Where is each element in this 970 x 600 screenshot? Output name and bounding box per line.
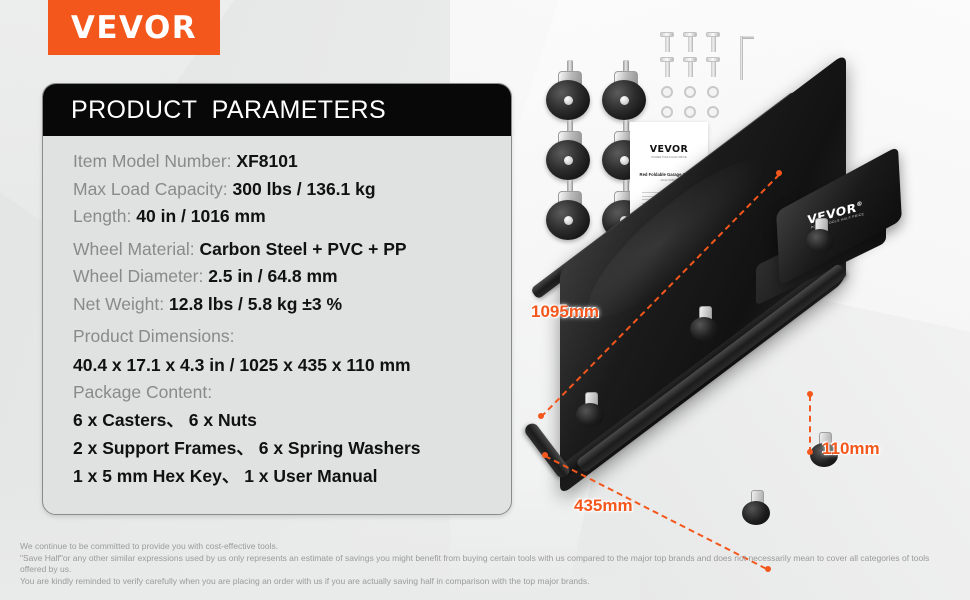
package-line: 1 x 5 mm Hex Key、 1 x User Manual <box>73 462 511 490</box>
panel-body: Item Model Number: XF8101 Max Load Capac… <box>43 136 511 490</box>
bolt-icon <box>683 57 697 77</box>
footer-line: We continue to be committed to provide y… <box>20 541 955 553</box>
spec-block-package: Package Content: 6 x Casters、 6 x Nuts 2… <box>73 379 511 491</box>
spec-value: XF8101 <box>236 151 297 171</box>
bolt-icon <box>706 57 720 77</box>
brand-logo: VEVOR <box>48 0 220 55</box>
product-infographic: VEVOR PRODUCT PARAMETERS Item Model Numb… <box>0 0 970 600</box>
spec-label: Net Weight: <box>73 294 164 314</box>
creeper-wheel <box>806 218 836 252</box>
dimensions-value: 40.4 x 17.1 x 4.3 in / 1025 x 435 x 110 … <box>73 351 511 379</box>
spec-row-wheel-material: Wheel Material: Carbon Steel + PVC + PP <box>73 236 511 264</box>
dimension-dot <box>807 449 813 455</box>
dimension-dot <box>807 391 813 397</box>
package-line: 6 x Casters、 6 x Nuts <box>73 406 511 434</box>
product-photo: VEVOR POWER TOOLS HALF PRICE Red Foldabl… <box>520 30 970 540</box>
spec-label: Length: <box>73 206 131 226</box>
creeper-wheel <box>742 490 772 524</box>
spec-value: 300 lbs / 136.1 kg <box>233 179 376 199</box>
bolt-icon <box>660 57 674 77</box>
spec-value: 2.5 in / 64.8 mm <box>208 266 337 286</box>
footer-line: "Save Half"or any other similar expressi… <box>20 553 955 576</box>
bolt-icon <box>660 32 674 52</box>
caster-icon <box>600 60 652 120</box>
dimension-label-height: 110mm <box>822 439 880 459</box>
dimension-dot <box>776 170 782 176</box>
dimension-label-length: 1095mm <box>531 302 599 322</box>
spec-label: Max Load Capacity: <box>73 179 228 199</box>
spec-value: 12.8 lbs / 5.8 kg ±3 % <box>169 294 342 314</box>
footer-line: You are kindly reminded to verify carefu… <box>20 576 955 588</box>
spec-row-max-load: Max Load Capacity: 300 lbs / 136.1 kg <box>73 176 511 204</box>
brand-logo-text: VEVOR <box>71 10 197 46</box>
manual-tagline: POWER TOOLS HALF PRICE <box>630 156 708 159</box>
caster-icon <box>544 60 596 120</box>
package-line: 2 x Support Frames、 6 x Spring Washers <box>73 434 511 462</box>
spring-washer-icon <box>661 106 673 118</box>
page-title: PRODUCT PARAMETERS <box>71 96 386 125</box>
spec-label: Wheel Material: <box>73 239 195 259</box>
dimension-dot <box>538 413 544 419</box>
spec-row-length: Length: 40 in / 1016 mm <box>73 203 511 231</box>
panel-header: PRODUCT PARAMETERS <box>43 84 511 136</box>
spring-washer-icon <box>684 86 696 98</box>
spec-value: Carbon Steel + PVC + PP <box>199 239 406 259</box>
dimension-dot <box>542 452 548 458</box>
bolt-icon <box>706 32 720 52</box>
spec-row-model: Item Model Number: XF8101 <box>73 148 511 176</box>
creeper-wheel <box>690 306 720 340</box>
dimension-line-height <box>809 395 811 453</box>
spring-washer-icon <box>707 86 719 98</box>
dimensions-label: Product Dimensions: <box>73 326 234 346</box>
spring-washer-icon <box>684 106 696 118</box>
bolt-icon <box>683 32 697 52</box>
spring-washer-icon <box>661 86 673 98</box>
product-parameters-panel: PRODUCT PARAMETERS Item Model Number: XF… <box>42 83 512 515</box>
spec-row-wheel-diameter: Wheel Diameter: 2.5 in / 64.8 mm <box>73 263 511 291</box>
spec-label: Wheel Diameter: <box>73 266 203 286</box>
footer-disclaimer: We continue to be committed to provide y… <box>20 541 955 587</box>
creeper-wheel <box>576 392 606 426</box>
spring-washer-icon <box>707 106 719 118</box>
dimension-label-width: 435mm <box>574 496 633 516</box>
spec-block-dimensions: Product Dimensions: 40.4 x 17.1 x 4.3 in… <box>73 323 511 379</box>
spec-value: 40 in / 1016 mm <box>136 206 265 226</box>
package-label: Package Content: <box>73 382 212 402</box>
garage-creeper: VEVOR® POWER TOOLS HALF PRICE <box>520 160 970 540</box>
spec-row-net-weight: Net Weight: 12.8 lbs / 5.8 kg ±3 % <box>73 291 511 319</box>
spec-label: Item Model Number: <box>73 151 232 171</box>
manual-logo: VEVOR <box>630 144 708 155</box>
